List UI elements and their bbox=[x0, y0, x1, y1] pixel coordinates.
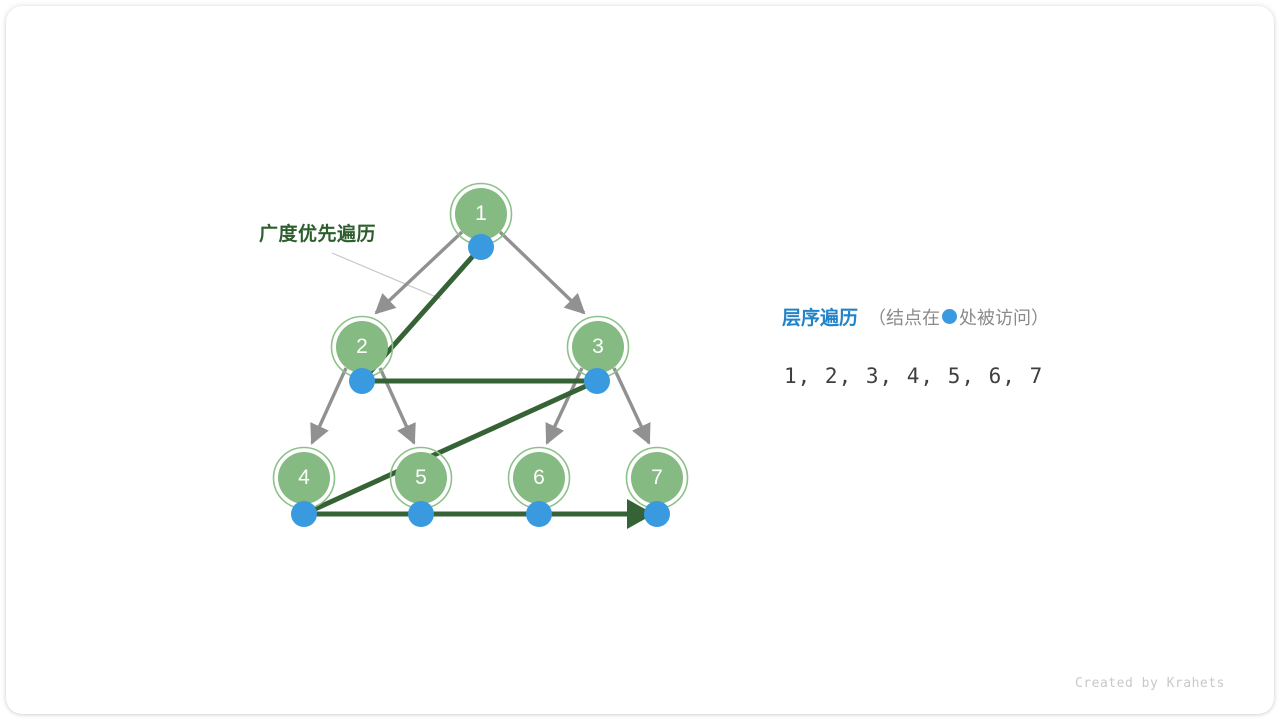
bfs-annotation-label: 广度优先遍历 bbox=[259, 219, 376, 246]
node-label-3: 3 bbox=[568, 333, 628, 361]
credit-text: Created by Krahets bbox=[1075, 676, 1225, 691]
visit-dot-icon bbox=[942, 309, 957, 324]
visit-dot-node-1[interactable] bbox=[468, 234, 494, 260]
visit-dot-node-3[interactable] bbox=[584, 368, 610, 394]
visit-dot-node-7[interactable] bbox=[644, 501, 670, 527]
tree-edge-3-7 bbox=[614, 368, 649, 443]
bfs-label-leader-line bbox=[332, 253, 441, 299]
legend-title: 层序遍历 bbox=[782, 303, 858, 330]
traversal-sequence: 1, 2, 3, 4, 5, 6, 7 bbox=[784, 364, 1043, 388]
visit-dot-node-2[interactable] bbox=[349, 368, 375, 394]
legend-note-prefix: （结点在 bbox=[868, 304, 940, 330]
node-label-2: 2 bbox=[332, 333, 392, 361]
legend-note-suffix: 处被访问） bbox=[959, 304, 1049, 330]
tree-edge-1-2 bbox=[376, 232, 462, 313]
node-label-7: 7 bbox=[627, 464, 687, 492]
node-label-1: 1 bbox=[451, 200, 511, 228]
tree-edge-2-4 bbox=[312, 368, 346, 443]
node-label-5: 5 bbox=[391, 464, 451, 492]
diagram-canvas: 1 2 3 4 5 6 7 广度优先遍历 层序遍历 （结点在 处被访问） 1, … bbox=[0, 0, 1280, 720]
tree-edge-1-3 bbox=[500, 232, 584, 313]
visit-dot-node-5[interactable] bbox=[408, 501, 434, 527]
visit-dot-node-4[interactable] bbox=[291, 501, 317, 527]
node-label-4: 4 bbox=[274, 464, 334, 492]
node-label-6: 6 bbox=[509, 464, 569, 492]
binary-tree-bfs-svg bbox=[0, 0, 1280, 720]
visit-dot-node-6[interactable] bbox=[526, 501, 552, 527]
legend-note: （结点在 处被访问） bbox=[868, 304, 1049, 330]
legend: 层序遍历 （结点在 处被访问） bbox=[782, 303, 1049, 330]
